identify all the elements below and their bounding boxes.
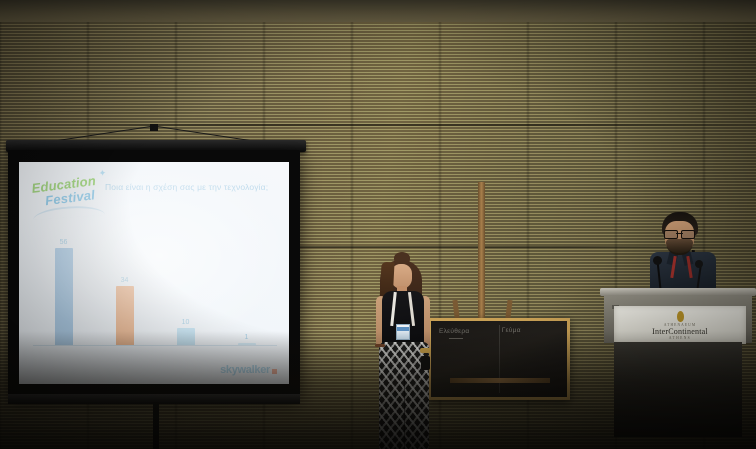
chart-bars: 56 34 10 1 — [33, 225, 277, 345]
foreground-shadow — [0, 331, 756, 449]
bar-chart: 56 34 10 1 — [33, 224, 277, 346]
presentation-scene-photo: ✦ Education Festival Ποια είναι η σχέση … — [0, 0, 756, 449]
bar-value-2: 10 — [182, 319, 190, 326]
ceiling-band — [0, 0, 756, 22]
bar-group-0: 56 — [33, 225, 94, 345]
slide-title: Ποια είναι η σχέση σας με την τεχνολογία… — [105, 182, 281, 192]
speaker-glasses-icon — [664, 230, 695, 237]
easel-post — [478, 182, 485, 332]
woman-hair-bun — [394, 252, 410, 264]
bar-value-1: 34 — [121, 277, 129, 284]
venue-crest-icon — [677, 311, 684, 322]
logo-star-icon: ✦ — [98, 168, 107, 180]
bar-group-2: 10 — [155, 225, 216, 345]
mic-head-left — [653, 256, 662, 265]
mic-head-right — [695, 260, 703, 268]
glasses-lens-right — [681, 230, 695, 239]
logo-swoosh — [33, 204, 106, 220]
bar-group-1: 34 — [94, 225, 155, 345]
bar-value-0: 56 — [60, 239, 68, 246]
glasses-lens-left — [664, 230, 678, 239]
bar-group-3: 1 — [216, 225, 277, 345]
education-festival-logo: ✦ Education Festival — [31, 171, 114, 222]
speaker-at-podium — [636, 212, 732, 298]
